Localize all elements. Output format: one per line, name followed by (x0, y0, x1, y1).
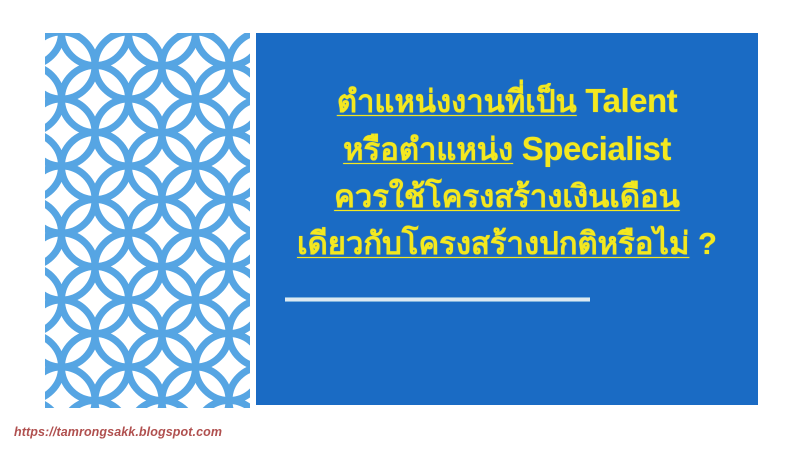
headline-line-3: ควรใช้โครงสร้างเงินเดือน (256, 173, 758, 220)
headline-divider-rule (285, 297, 590, 302)
headline-line-3-thai: ควรใช้โครงสร้างเงินเดือน (334, 179, 680, 214)
slide-canvas: ตำแหน่งงานที่เป็น Talent หรือตำแหน่ง Spe… (0, 0, 800, 449)
headline-line-2-latin: Specialist (513, 130, 671, 167)
headline-line-4: เดียวกับโครงสร้างปกติหรือไม่ ? (256, 220, 758, 267)
headline-line-2-thai: หรือตำแหน่ง (343, 132, 513, 167)
overlapping-circles-lattice-icon (45, 33, 250, 408)
headline-line-1: ตำแหน่งงานที่เป็น Talent (256, 77, 758, 125)
headline-line-1-latin: Talent (577, 82, 677, 119)
headline-text-block: ตำแหน่งงานที่เป็น Talent หรือตำแหน่ง Spe… (256, 77, 758, 267)
headline-line-4-tail: ? (689, 226, 717, 261)
headline-line-2: หรือตำแหน่ง Specialist (256, 125, 758, 173)
headline-line-4-thai: เดียวกับโครงสร้างปกติหรือไม่ (297, 226, 689, 261)
headline-card: ตำแหน่งงานที่เป็น Talent หรือตำแหน่ง Spe… (256, 33, 758, 405)
headline-line-1-thai: ตำแหน่งงานที่เป็น (337, 84, 577, 119)
decorative-pattern-panel (45, 33, 250, 408)
source-url-text: https://tamrongsakk.blogspot.com (14, 425, 222, 439)
